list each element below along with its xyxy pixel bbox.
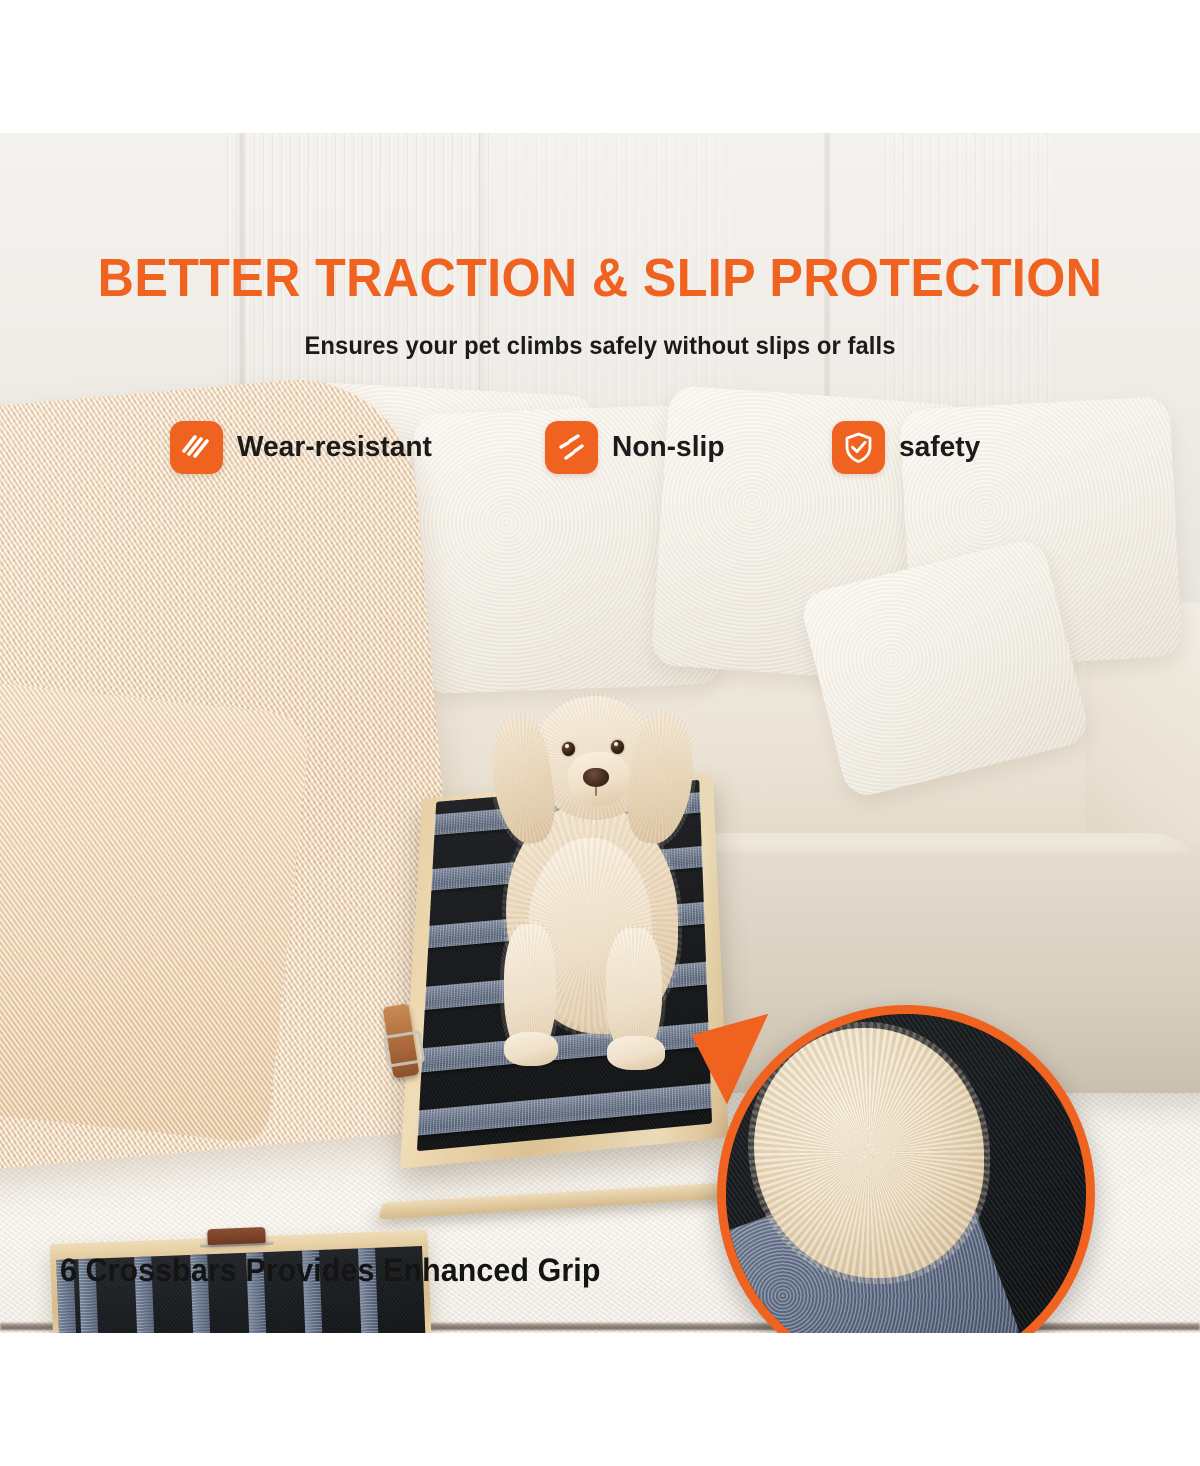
dog-paw-right — [607, 1036, 665, 1070]
badge-non-slip: Non-slip — [545, 418, 728, 476]
ramp-strap-buckle — [383, 1030, 426, 1068]
scatter-dashes-icon — [545, 421, 598, 474]
badge-label: Non-slip — [612, 431, 725, 464]
dog — [470, 688, 720, 1108]
dog-nose — [583, 768, 609, 787]
badge-label: safety — [899, 431, 980, 464]
magnifier-callout — [717, 1005, 1095, 1333]
badge-safety: safety — [832, 418, 983, 476]
dog-eye-right — [611, 740, 624, 754]
product-photo — [0, 133, 1200, 1333]
dog-eye-left — [562, 742, 575, 756]
shield-check-icon — [832, 421, 885, 474]
caption: 6 Crossbars Provides Enhanced Grip — [60, 1252, 725, 1289]
marketing-image: BETTER TRACTION & SLIP PROTECTION Ensure… — [0, 0, 1200, 1466]
badge-label: Wear-resistant — [237, 431, 432, 464]
folded-ramp-handle — [207, 1227, 266, 1245]
dog-paw-closeup — [754, 1028, 984, 1278]
diagonal-stripes-icon — [170, 421, 223, 474]
headline: BETTER TRACTION & SLIP PROTECTION — [42, 250, 1158, 307]
badge-wear-resistant: Wear-resistant — [170, 418, 438, 476]
dog-paw-left — [504, 1032, 558, 1066]
feature-badges: Wear-resistant Non-slip — [0, 418, 1200, 494]
dog-mouth — [595, 787, 597, 796]
throw-blanket-fold — [0, 672, 311, 1144]
subheadline: Ensures your pet climbs safely without s… — [30, 332, 1170, 361]
magnifier-content — [726, 1014, 1086, 1333]
